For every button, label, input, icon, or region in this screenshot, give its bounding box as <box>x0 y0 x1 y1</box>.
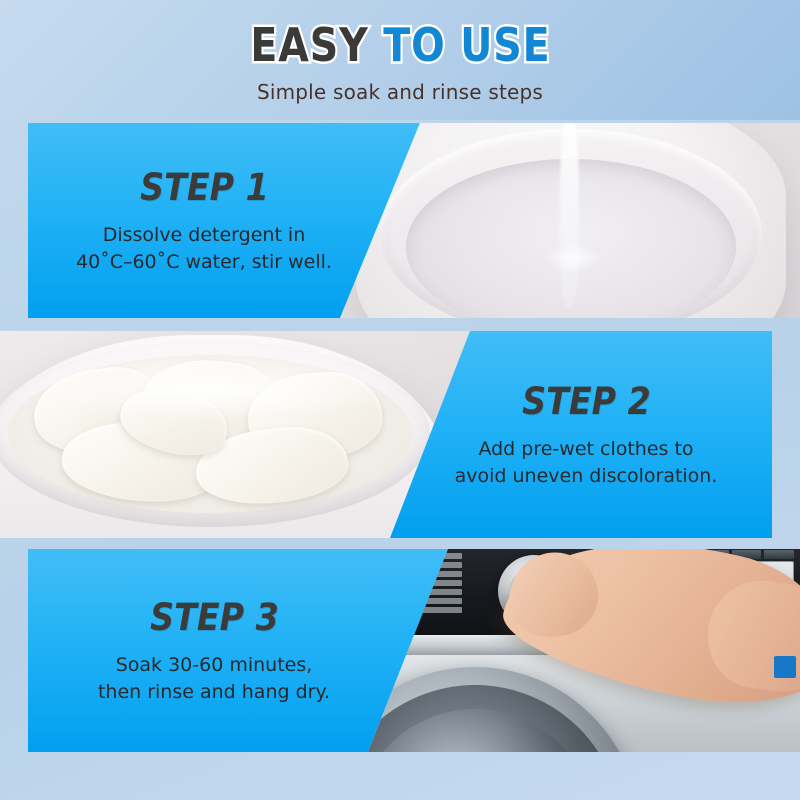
page-title-part-easy: EASY <box>250 18 383 72</box>
step-1-number: STEP 1 <box>140 166 269 209</box>
step-3-copy: STEP 3 Soak 30-60 minutes, then rinse an… <box>28 549 400 752</box>
step-3-number: STEP 3 <box>150 596 279 639</box>
step-1-row: STEP 1 Dissolve detergent in 40˚C–60˚C w… <box>28 123 800 318</box>
step-3-description: Soak 30-60 minutes, then rinse and hang … <box>98 652 330 706</box>
water-stream <box>560 123 579 309</box>
step-2-description: Add pre-wet clothes to avoid uneven disc… <box>455 436 718 490</box>
header-banner: EASY TO USE Simple soak and rinse steps <box>0 0 800 120</box>
page-title: EASY TO USE <box>250 22 550 68</box>
water-splash <box>544 243 602 273</box>
page-title-part-to-use: TO USE <box>383 18 550 72</box>
infographic-root: EASY TO USE Simple soak and rinse steps … <box>0 0 800 800</box>
foam-highlight <box>16 355 404 417</box>
step-2-row: STEP 2 Add pre-wet clothes to avoid unev… <box>0 331 772 538</box>
washer-button[interactable] <box>764 550 794 559</box>
energy-label-badge <box>774 656 796 678</box>
page-subtitle: Simple soak and rinse steps <box>257 80 543 104</box>
step-2-copy: STEP 2 Add pre-wet clothes to avoid unev… <box>400 331 772 538</box>
step-1-description: Dissolve detergent in 40˚C–60˚C water, s… <box>76 222 332 276</box>
step-1-copy: STEP 1 Dissolve detergent in 40˚C–60˚C w… <box>28 123 380 318</box>
step-3-row: 800 0:05 <box>28 549 800 752</box>
step-2-number: STEP 2 <box>522 380 651 423</box>
